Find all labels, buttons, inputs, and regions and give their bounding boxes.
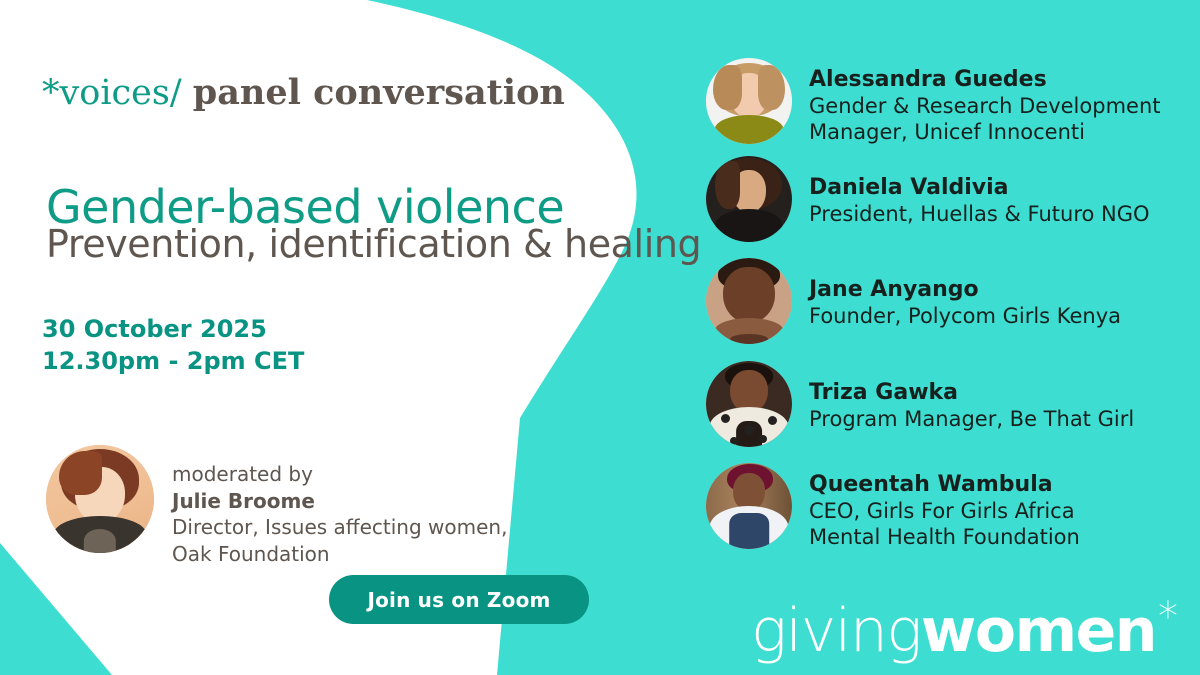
speaker-name: Jane Anyango bbox=[809, 277, 1121, 303]
speaker-name: Triza Gawka bbox=[809, 380, 1134, 406]
speaker-name: Daniela Valdivia bbox=[809, 175, 1150, 201]
kicker-panel: panel conversation bbox=[193, 72, 565, 113]
kicker-voices: *voices/ bbox=[42, 73, 182, 113]
speaker-info: Alessandra Guedes Gender & Research Deve… bbox=[809, 58, 1160, 145]
moderator-text: moderated by Julie Broome Director, Issu… bbox=[172, 445, 507, 567]
speaker-avatar bbox=[706, 156, 792, 242]
logo-thin-part: giving bbox=[751, 596, 921, 666]
speaker-role-line2: Manager, Unicef Innocenti bbox=[809, 119, 1160, 145]
speaker-row: Daniela Valdivia President, Huellas & Fu… bbox=[706, 156, 1176, 248]
speaker-role-line1: Gender & Research Development bbox=[809, 93, 1160, 119]
moderator-role-line2: Oak Foundation bbox=[172, 541, 507, 568]
speaker-avatar bbox=[706, 463, 792, 549]
event-datetime: 30 October 2025 12.30pm - 2pm CET bbox=[42, 314, 304, 378]
kicker-line: *voices/ panel conversation bbox=[42, 74, 565, 113]
logo-bold-part: women bbox=[921, 596, 1156, 666]
asterisk-icon: * bbox=[1158, 597, 1178, 637]
speaker-role-line1: President, Huellas & Futuro NGO bbox=[809, 201, 1150, 227]
logo-wordmark: givingwomen bbox=[751, 601, 1156, 661]
speaker-avatar bbox=[706, 361, 792, 447]
speaker-info: Queentah Wambula CEO, Girls For Girls Af… bbox=[809, 463, 1080, 550]
event-poster: *voices/ panel conversation Gender-based… bbox=[0, 0, 1200, 675]
giving-women-logo: givingwomen * bbox=[751, 601, 1178, 661]
join-zoom-button[interactable]: Join us on Zoom bbox=[329, 575, 589, 624]
page-subtitle: Prevention, identification & healing bbox=[46, 222, 701, 266]
speaker-row: Jane Anyango Founder, Polycom Girls Keny… bbox=[706, 258, 1176, 350]
speaker-info: Jane Anyango Founder, Polycom Girls Keny… bbox=[809, 258, 1121, 329]
speakers-list: Alessandra Guedes Gender & Research Deve… bbox=[706, 58, 1176, 564]
moderator-role-line1: Director, Issues affecting women, bbox=[172, 514, 507, 541]
event-time: 12.30pm - 2pm CET bbox=[42, 346, 304, 378]
speaker-row: Alessandra Guedes Gender & Research Deve… bbox=[706, 58, 1176, 150]
speaker-role-line1: CEO, Girls For Girls Africa bbox=[809, 498, 1080, 524]
speaker-avatar bbox=[706, 258, 792, 344]
moderator-label: moderated by bbox=[172, 461, 507, 488]
speaker-info: Daniela Valdivia President, Huellas & Fu… bbox=[809, 156, 1150, 227]
speaker-info: Triza Gawka Program Manager, Be That Gir… bbox=[809, 361, 1134, 432]
speaker-row: Queentah Wambula CEO, Girls For Girls Af… bbox=[706, 463, 1176, 555]
speaker-role-line2: Mental Health Foundation bbox=[809, 524, 1080, 550]
speaker-avatar bbox=[706, 58, 792, 144]
speaker-row: Triza Gawka Program Manager, Be That Gir… bbox=[706, 361, 1176, 453]
speaker-role-line1: Founder, Polycom Girls Kenya bbox=[809, 303, 1121, 329]
speaker-name: Alessandra Guedes bbox=[809, 67, 1160, 93]
event-date: 30 October 2025 bbox=[42, 314, 304, 346]
speaker-name: Queentah Wambula bbox=[809, 472, 1080, 498]
moderator-avatar bbox=[46, 445, 154, 553]
speaker-role-line1: Program Manager, Be That Girl bbox=[809, 406, 1134, 432]
moderator-name: Julie Broome bbox=[172, 488, 507, 515]
moderator-block: moderated by Julie Broome Director, Issu… bbox=[46, 445, 507, 567]
left-content-column: *voices/ panel conversation Gender-based… bbox=[40, 0, 680, 675]
